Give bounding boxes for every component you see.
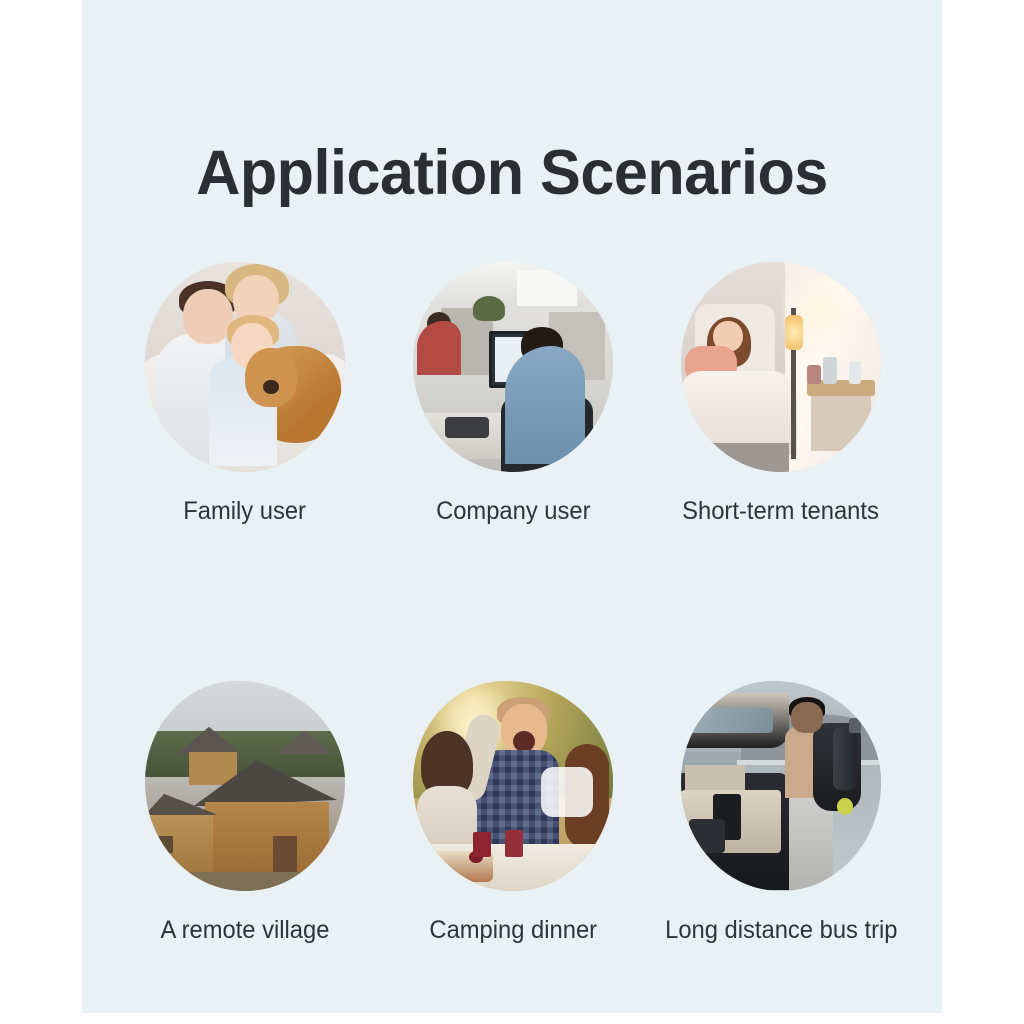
scenario-caption-short-term-tenants: Short-term tenants (683, 498, 880, 526)
scenario-card-camping-dinner[interactable]: Camping dinner (413, 681, 613, 945)
dog-head-shape (245, 348, 297, 407)
worker-body-shape (505, 346, 585, 464)
scenario-caption-camping-dinner: Camping dinner (429, 917, 597, 945)
window-shape (517, 270, 577, 306)
drink-glass-one-shape (473, 832, 491, 857)
application-scenarios-page: Application Scenarios (0, 0, 1024, 1024)
tailgate-glass-shape (685, 708, 773, 733)
lamp-light-shape (785, 315, 803, 351)
scenario-caption-a-remote-village: A remote village (161, 917, 330, 945)
drink-glass-two-shape (505, 830, 523, 857)
gear-clip-shape (837, 798, 853, 815)
scenario-card-family-user[interactable]: Family user (145, 262, 345, 526)
bottle-secondary-shape (849, 361, 861, 384)
family-photo-illustration (145, 262, 345, 472)
village-photo-illustration (145, 681, 345, 891)
cup-shape (807, 365, 821, 384)
air-tank-shape (833, 727, 857, 790)
village-window-shape (151, 836, 173, 853)
bedroom-photo-illustration (681, 262, 881, 472)
scenario-row-2: A remote village (145, 681, 880, 945)
scenario-image-long-distance-bus-trip (681, 681, 881, 891)
scenario-image-family-user (145, 262, 345, 472)
scenario-image-a-remote-village (145, 681, 345, 891)
scenario-image-short-term-tenants (681, 262, 881, 472)
desk-equipment-shape (445, 417, 489, 438)
scenario-image-company-user (413, 262, 613, 472)
foreground-glass-shape (541, 767, 593, 817)
scenario-card-a-remote-village[interactable]: A remote village (145, 681, 345, 945)
ground-shape (145, 872, 345, 891)
scenario-caption-long-distance-bus-trip: Long distance bus trip (665, 917, 897, 945)
camper-mouth-shape (513, 731, 535, 752)
side-table-body-shape (811, 392, 871, 451)
traveler-head-shape (791, 702, 823, 734)
page-title: Application Scenarios (95, 140, 929, 206)
scenario-card-long-distance-bus-trip[interactable]: Long distance bus trip (681, 681, 881, 945)
scenario-caption-company-user: Company user (436, 498, 590, 526)
content-panel: Application Scenarios (82, 0, 942, 1013)
ceiling-shape (413, 262, 613, 308)
dog-nose-shape (263, 380, 279, 395)
luggage-shape (689, 819, 725, 853)
bottle-shape (823, 357, 837, 384)
coworker-body-shape (417, 321, 461, 376)
scenario-row-1: Family user (145, 262, 880, 526)
scenario-grid: Family user (145, 262, 880, 944)
scenario-caption-family-user: Family user (184, 498, 307, 526)
camping-photo-illustration (413, 681, 613, 891)
scenario-image-camping-dinner (413, 681, 613, 891)
bed-base-shape (685, 443, 789, 472)
regulator-shape (849, 718, 861, 733)
office-photo-illustration (413, 262, 613, 472)
road-trip-photo-illustration (681, 681, 881, 891)
scenario-card-company-user[interactable]: Company user (413, 262, 613, 526)
plant-shape (473, 296, 505, 321)
scenario-card-short-term-tenants[interactable]: Short-term tenants (681, 262, 881, 526)
